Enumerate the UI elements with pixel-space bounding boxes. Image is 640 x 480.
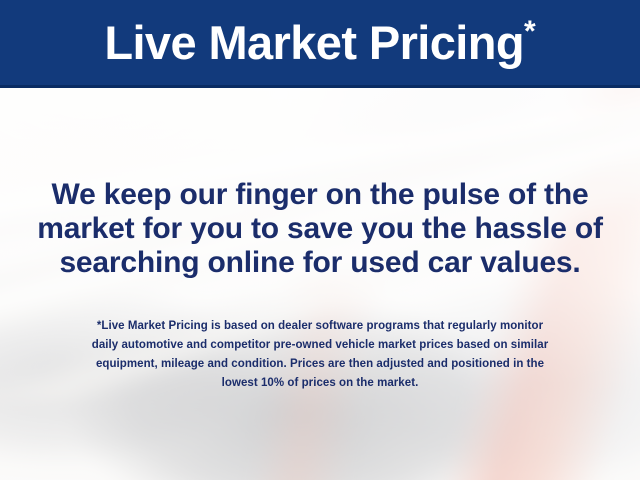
headline-line-1: We keep our finger on the pulse of the bbox=[0, 178, 640, 212]
headline-line-3: searching online for used car values. bbox=[0, 246, 640, 280]
disclaimer-line-4: lowest 10% of prices on the market. bbox=[28, 374, 612, 393]
page-title-text: Live Market Pricing bbox=[104, 16, 524, 69]
disclaimer-line-2: daily automotive and competitor pre-owne… bbox=[28, 336, 612, 355]
header-band: Live Market Pricing* bbox=[0, 0, 640, 88]
disclaimer-line-1: *Live Market Pricing is based on dealer … bbox=[28, 317, 612, 336]
disclaimer: *Live Market Pricing is based on dealer … bbox=[28, 317, 612, 393]
disclaimer-line-3: equipment, mileage and condition. Prices… bbox=[28, 355, 612, 374]
live-market-pricing-banner: Live Market Pricing* We keep our finger … bbox=[0, 0, 640, 480]
headline-line-2: market for you to save you the hassle of bbox=[0, 212, 640, 246]
page-title-asterisk: * bbox=[524, 15, 536, 48]
headline: We keep our finger on the pulse of the m… bbox=[0, 178, 640, 280]
page-title: Live Market Pricing* bbox=[104, 17, 535, 69]
